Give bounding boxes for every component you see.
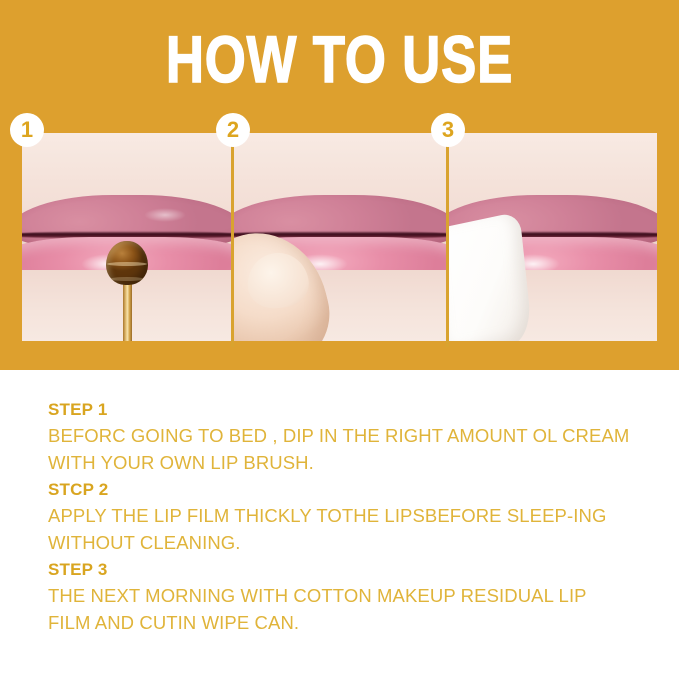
lips-illustration-2 (232, 133, 447, 341)
instruction-step-1: STEP 1 BEFORC GOING TO BED , DIP IN THE … (48, 398, 648, 476)
step-badge-3: 3 (431, 113, 465, 147)
step-2-heading: STCP 2 (48, 478, 648, 502)
panel-divider-2 (446, 133, 449, 347)
fingernail-icon (245, 249, 312, 310)
photo-strip (22, 133, 657, 341)
applicator-band-2 (110, 277, 144, 281)
step-badge-1: 1 (10, 113, 44, 147)
instruction-step-2: STCP 2 APPLY THE LIP FILM THICKLY TOTHE … (48, 478, 648, 556)
step-image-2 (232, 133, 447, 341)
step-image-1 (22, 133, 232, 341)
step-3-heading: STEP 3 (48, 558, 648, 582)
instructions-section: STEP 1 BEFORC GOING TO BED , DIP IN THE … (48, 398, 648, 638)
step-1-body: BEFORC GOING TO BED , DIP IN THE RIGHT A… (48, 422, 633, 476)
panel-divider-1 (231, 133, 234, 347)
page-title: HOW TO USE (68, 26, 611, 92)
lips-illustration-3 (447, 133, 657, 341)
step-2-body: APPLY THE LIP FILM THICKLY TOTHE LIPSBEF… (48, 502, 633, 556)
cotton-pad-icon (447, 212, 533, 341)
step-badge-2: 2 (216, 113, 250, 147)
lips-illustration-1 (22, 133, 232, 341)
step-1-heading: STEP 1 (48, 398, 648, 422)
step-3-body: THE NEXT MORNING WITH COTTON MAKEUP RESI… (48, 582, 633, 636)
applicator-band-1 (107, 262, 147, 266)
step-image-3 (447, 133, 657, 341)
how-to-use-infographic: HOW TO USE (0, 0, 679, 679)
instruction-step-3: STEP 3 THE NEXT MORNING WITH COTTON MAKE… (48, 558, 648, 636)
